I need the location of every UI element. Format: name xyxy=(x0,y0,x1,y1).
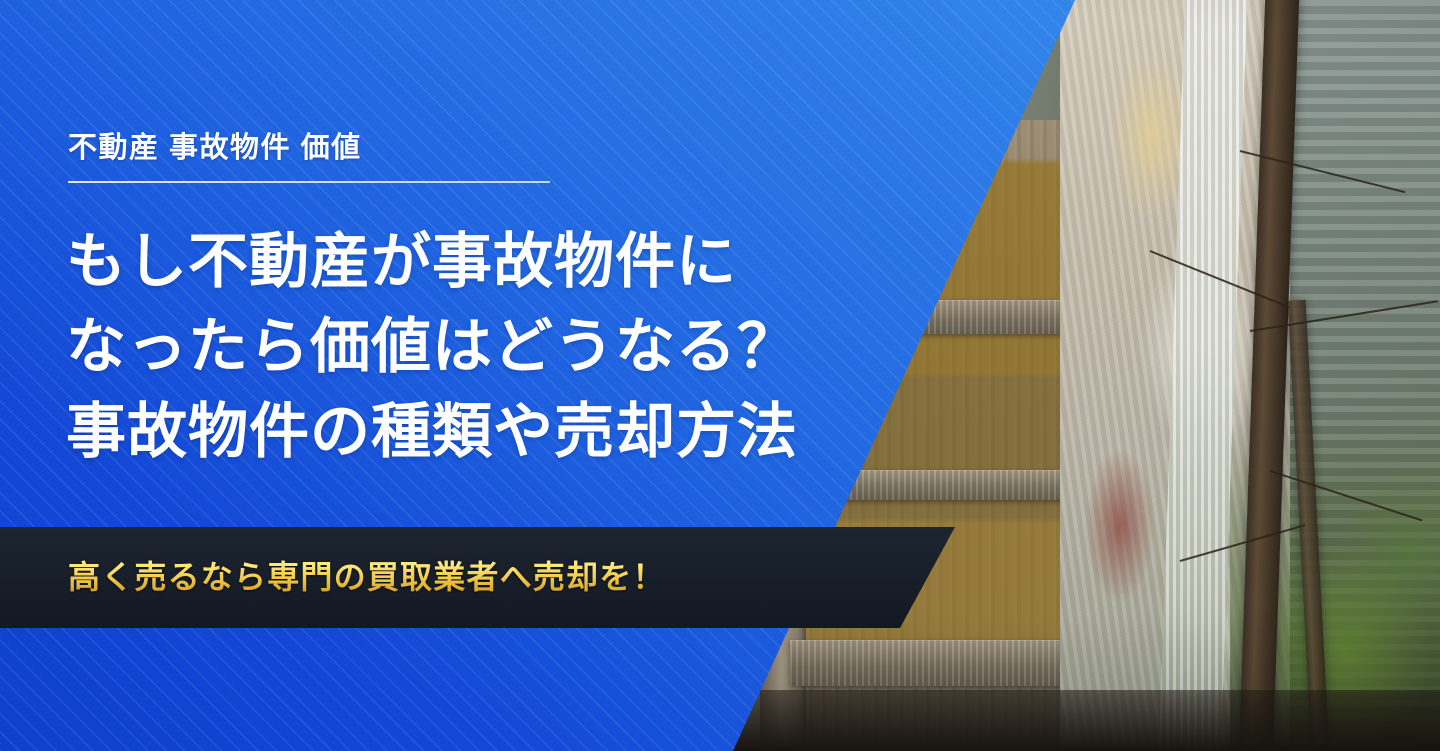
ribbon-banner-text: 高く売るなら専門の買取業者へ売却を！ xyxy=(68,552,666,598)
hero-banner: 不動産 事故物件 価値 もし不動産が事故物件に なったら価値はどうなる？ 事故物… xyxy=(0,0,1440,751)
headline-line-2: なったら価値はどうなる？ xyxy=(66,304,896,389)
eyebrow-divider xyxy=(68,181,550,183)
page-title: もし不動産が事故物件に なったら価値はどうなる？ 事故物件の種類や売却方法 xyxy=(66,219,896,474)
headline-line-3: 事故物件の種類や売却方法 xyxy=(66,389,896,474)
headline-line-1: もし不動産が事故物件に xyxy=(66,219,896,304)
category-eyebrow: 不動産 事故物件 価値 xyxy=(68,124,362,166)
